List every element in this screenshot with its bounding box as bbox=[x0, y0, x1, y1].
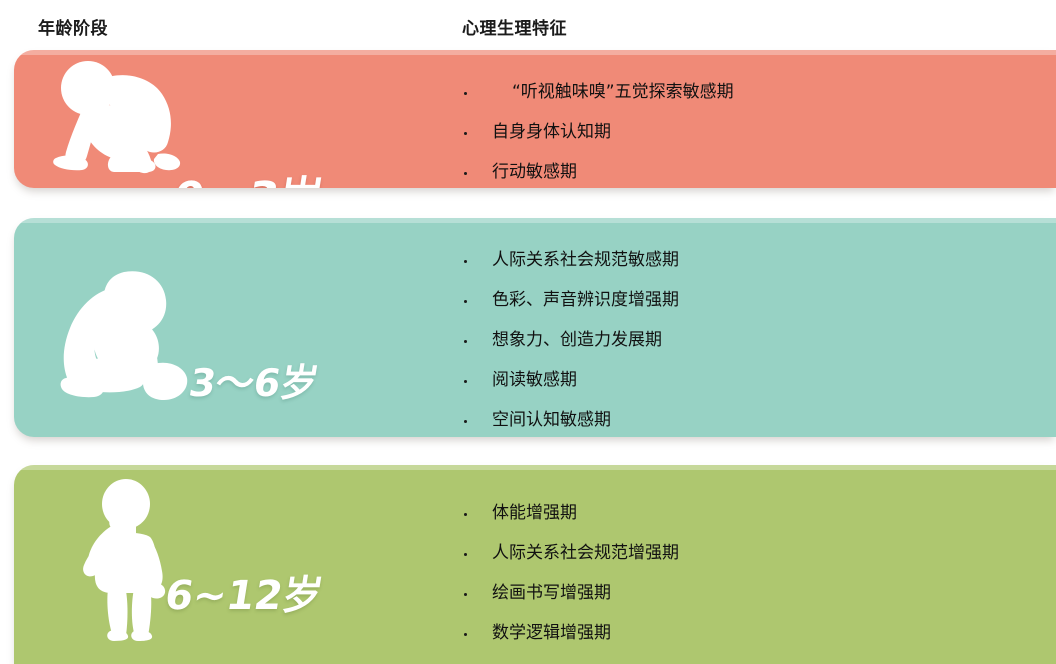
bullet-dot-icon bbox=[464, 300, 467, 303]
trait-text: 人际关系社会规范敏感期 bbox=[492, 252, 679, 269]
trait-list-3-6: 人际关系社会规范敏感期 色彩、声音辨识度增强期 想象力、创造力发展期 阅读敏感期… bbox=[460, 252, 1056, 437]
stage-left-zone-3-6: 3～6岁 bbox=[14, 218, 434, 437]
trait-item: 数学逻辑增强期 bbox=[460, 625, 1056, 642]
bullet-dot-icon bbox=[464, 92, 467, 95]
trait-text: “听视触味嗅”五觉探索敏感期 bbox=[492, 84, 734, 101]
trait-text: 空间认知敏感期 bbox=[492, 412, 611, 429]
header-age-stage: 年龄阶段 bbox=[38, 14, 108, 39]
trait-item: 自身身体认知期 bbox=[460, 124, 1056, 141]
trait-text: 想象力、创造力发展期 bbox=[492, 332, 662, 349]
bullet-dot-icon bbox=[464, 593, 467, 596]
stage-panel-3-6: 3～6岁 人际关系社会规范敏感期 色彩、声音辨识度增强期 想象力、创造力发展期 … bbox=[14, 218, 1056, 437]
trait-item: 人际关系社会规范敏感期 bbox=[460, 252, 1056, 269]
trait-item: 绘画书写增强期 bbox=[460, 585, 1056, 602]
trait-text: 行动敏感期 bbox=[492, 164, 577, 181]
trait-text: 人际关系社会规范增强期 bbox=[492, 545, 679, 562]
crawling-baby-silhouette-icon bbox=[40, 58, 182, 176]
bullet-dot-icon bbox=[464, 420, 467, 423]
trait-text: 数学逻辑增强期 bbox=[492, 625, 611, 642]
bullet-dot-icon bbox=[464, 633, 467, 636]
bullet-dot-icon bbox=[464, 260, 467, 263]
stage-panel-6-12: 6~12岁 体能增强期 人际关系社会规范增强期 绘画书写增强期 数学逻辑增强期 bbox=[14, 465, 1056, 664]
bullet-dot-icon bbox=[464, 380, 467, 383]
header-psycho-physiological-traits: 心理生理特征 bbox=[462, 14, 567, 39]
trait-text: 阅读敏感期 bbox=[492, 372, 577, 389]
stage-panel-0-3: 0～3岁 “听视触味嗅”五觉探索敏感期 自身身体认知期 行动敏感期 bbox=[14, 50, 1056, 188]
trait-item: 阅读敏感期 bbox=[460, 372, 1056, 389]
trait-item: 体能增强期 bbox=[460, 505, 1056, 522]
trait-text: 绘画书写增强期 bbox=[492, 585, 611, 602]
crouching-child-silhouette-icon bbox=[50, 266, 190, 406]
column-headers: 年龄阶段 心理生理特征 bbox=[0, 0, 1056, 48]
bullet-dot-icon bbox=[464, 132, 467, 135]
bullet-dot-icon bbox=[464, 513, 467, 516]
trait-list-0-3: “听视触味嗅”五觉探索敏感期 自身身体认知期 行动敏感期 bbox=[460, 84, 1056, 188]
bullet-dot-icon bbox=[464, 172, 467, 175]
trait-item: 人际关系社会规范增强期 bbox=[460, 545, 1056, 562]
trait-item: 行动敏感期 bbox=[460, 164, 1056, 181]
trait-text: 体能增强期 bbox=[492, 505, 577, 522]
trait-list-6-12: 体能增强期 人际关系社会规范增强期 绘画书写增强期 数学逻辑增强期 bbox=[460, 505, 1056, 664]
trait-text: 自身身体认知期 bbox=[492, 124, 611, 141]
stage-left-zone-6-12: 6~12岁 bbox=[14, 465, 434, 664]
age-label-6-12: 6~12岁 bbox=[161, 563, 327, 621]
stage-left-zone-0-3: 0～3岁 bbox=[14, 50, 434, 188]
bullet-dot-icon bbox=[464, 553, 467, 556]
trait-item: 色彩、声音辨识度增强期 bbox=[460, 292, 1056, 309]
trait-item: “听视触味嗅”五觉探索敏感期 bbox=[460, 84, 1056, 101]
bullet-dot-icon bbox=[464, 340, 467, 343]
age-label-3-6: 3～6岁 bbox=[186, 352, 324, 407]
age-label-0-3: 0～3岁 bbox=[169, 162, 328, 188]
trait-text: 色彩、声音辨识度增强期 bbox=[492, 292, 679, 309]
trait-item: 空间认知敏感期 bbox=[460, 412, 1056, 429]
trait-item: 想象力、创造力发展期 bbox=[460, 332, 1056, 349]
